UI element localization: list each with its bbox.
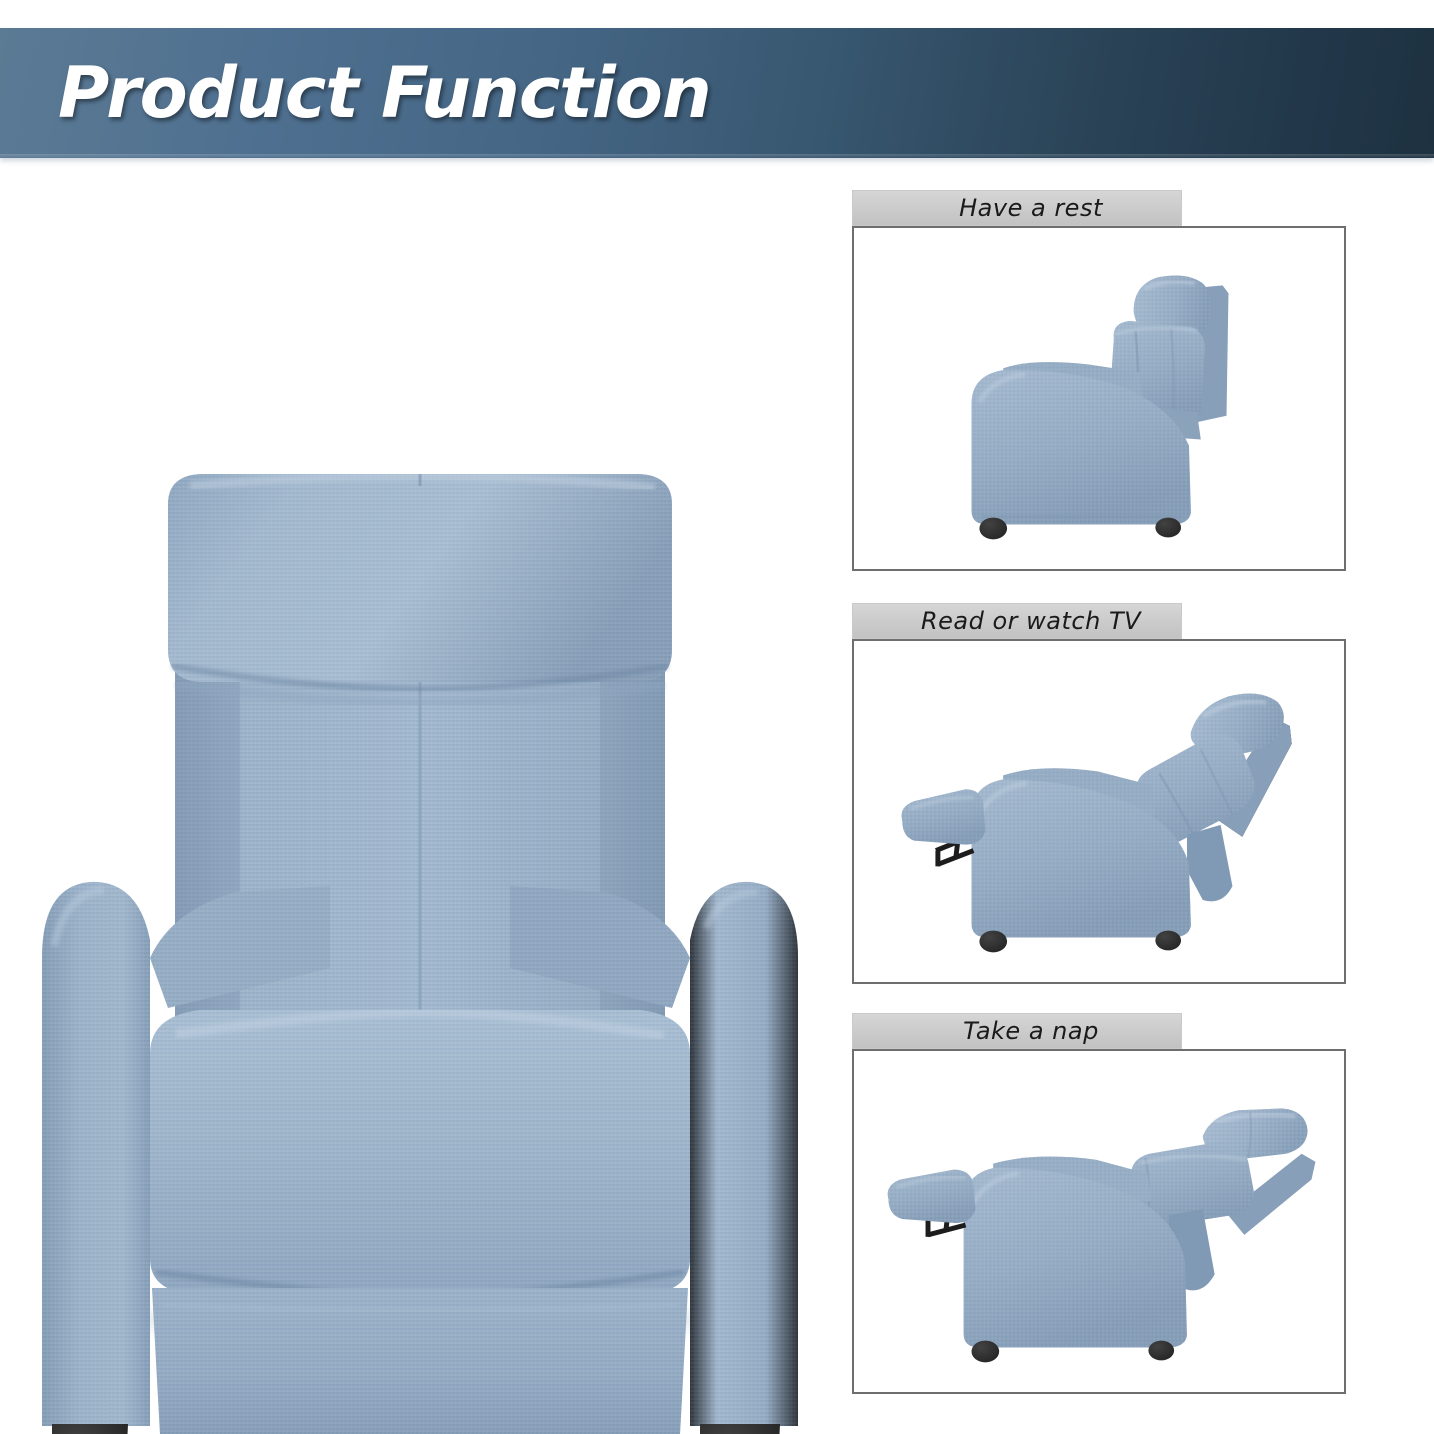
panel-read-or-watch-tv[interactable]: Read or watch TV [852,603,1346,987]
leg-rear [1148,1341,1174,1361]
leg-front [971,1341,999,1363]
leg-rear [1155,931,1181,951]
panel-frame-take-a-nap [852,1049,1346,1394]
panel-label-have-a-rest: Have a rest [959,194,1103,222]
page-title: Product Function [58,52,711,134]
recliner-front-view-svg [0,168,830,1434]
recliner-side-reclined-svg [854,641,1344,982]
leg-rear [1155,518,1181,538]
leg-front [979,931,1007,953]
panel-tab-read-or-watch-tv: Read or watch TV [852,603,1182,639]
panel-frame-read-or-watch-tv [852,639,1346,984]
panel-frame-have-a-rest [852,226,1346,571]
panel-label-read-or-watch-tv: Read or watch TV [921,607,1141,635]
leg-front-left [52,1424,128,1434]
function-panels: Have a rest [852,190,1348,1400]
panel-have-a-rest[interactable]: Have a rest [852,190,1346,574]
panel-tab-have-a-rest: Have a rest [852,190,1182,226]
leg-front-right [700,1424,780,1434]
header-banner: Product Function [0,28,1434,158]
panel-tab-take-a-nap: Take a nap [852,1013,1182,1049]
hero-product-image [0,168,830,1434]
leg-front [979,518,1007,540]
panel-take-a-nap[interactable]: Take a nap [852,1013,1346,1397]
panel-label-take-a-nap: Take a nap [963,1017,1099,1045]
recliner-side-upright-svg [854,228,1344,569]
recliner-side-flat-svg [854,1051,1344,1392]
